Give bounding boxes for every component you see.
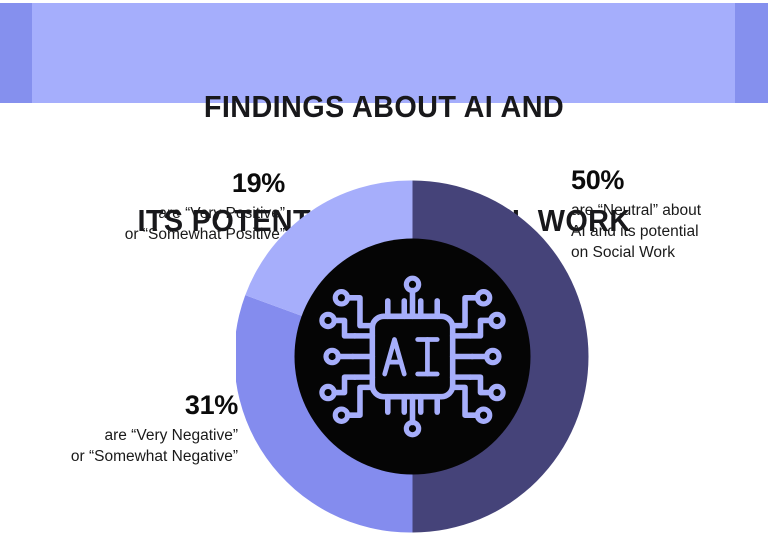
callout-neutral-line-3: on Social Work	[571, 242, 761, 263]
callout-positive-line-1: are “Very Positive”	[20, 203, 285, 224]
callout-neutral-line-1: are “Neutral” about	[571, 200, 761, 221]
donut-chart-svg	[236, 180, 589, 533]
callout-negative: 31% are “Very Negative” or “Somewhat Neg…	[0, 390, 238, 467]
donut-chart	[236, 180, 589, 533]
callout-positive: 19% are “Very Positive” or “Somewhat Pos…	[20, 168, 285, 245]
callout-neutral-percent: 50%	[571, 165, 761, 195]
infographic-canvas: FINDINGS ABOUT AI AND ITS POTENTIAL ON S…	[0, 0, 768, 553]
page-title-line-1: FINDINGS ABOUT AI AND	[27, 88, 741, 126]
callout-positive-line-2: or “Somewhat Positive”	[20, 224, 285, 245]
callout-neutral-line-2: AI and its potential	[571, 221, 761, 242]
callout-negative-percent: 31%	[0, 390, 238, 420]
callout-negative-line-2: or “Somewhat Negative”	[0, 446, 238, 467]
callout-neutral: 50% are “Neutral” about AI and its poten…	[571, 165, 761, 263]
callout-positive-percent: 19%	[20, 168, 285, 198]
callout-negative-line-1: are “Very Negative”	[0, 425, 238, 446]
donut-center-disc	[295, 239, 531, 475]
